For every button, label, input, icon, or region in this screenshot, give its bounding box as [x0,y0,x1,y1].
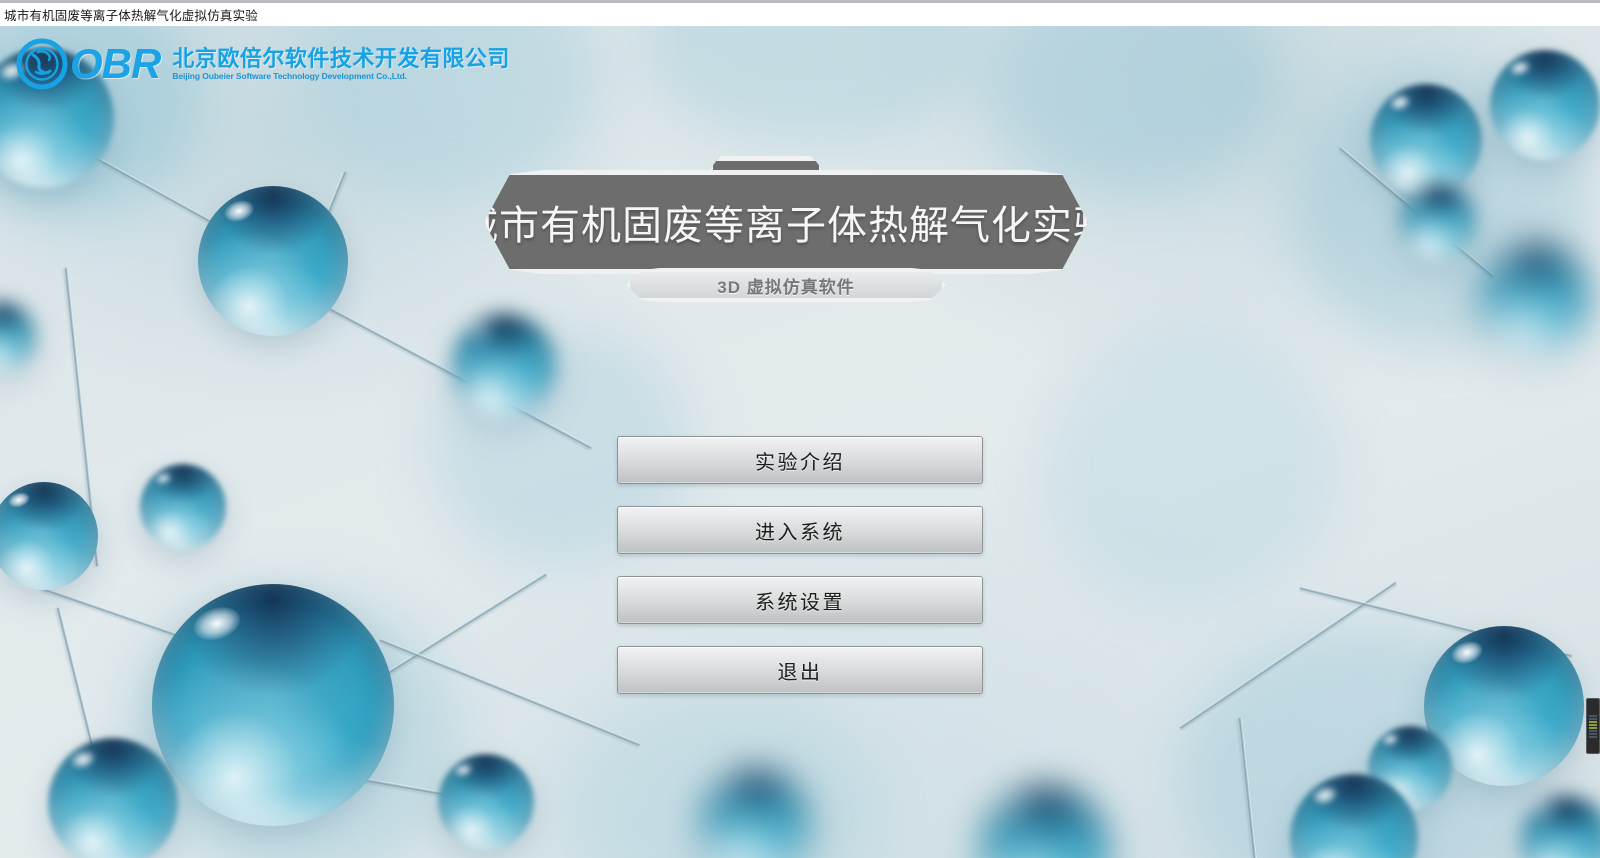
molecule-sphere [1480,244,1590,354]
exit-button-label: 退出 [778,656,823,685]
molecule-sphere [700,770,810,858]
molecular-bond [1339,146,1495,278]
molecule-sphere [1368,726,1452,810]
molecular-bond [1238,718,1263,858]
meter-tick [1589,730,1597,732]
page-subtitle: 3D 虚拟仿真软件 [717,273,854,298]
logo-company-block: 北京欧倍尔软件技术开发有限公司 Beijing Oubeier Software… [172,47,510,80]
system-settings-button-label: 系统设置 [755,586,845,615]
molecule-sphere [1290,774,1418,858]
banner-plate: 城市有机固废等离子体热解气化实验 [484,170,1088,274]
bokeh-blob [640,26,980,146]
bokeh-blob [1040,326,1340,606]
molecule-sphere [1520,796,1600,858]
banner-top-notch [708,156,824,172]
application-window: 城市有机固废等离子体热解气化虚拟仿真实验 [0,0,1600,858]
molecular-bond [1179,581,1397,730]
molecular-bond [1300,586,1573,658]
molecule-sphere [140,464,226,550]
molecular-bond [56,608,116,832]
logo-wordmark: OBR [70,43,160,85]
molecular-bond [160,742,486,803]
logo-company-name-cn: 北京欧倍尔软件技术开发有限公司 [172,47,510,70]
molecular-bond [39,586,324,687]
molecule-sphere [152,584,394,826]
edge-scrollbar-widget[interactable] [1586,698,1600,754]
molecule-sphere [452,314,556,418]
main-menu: 实验介绍 进入系统 系统设置 退出 [617,436,983,694]
bokeh-blob [560,686,880,858]
window-title-text: 城市有机固废等离子体热解气化虚拟仿真实验 [4,5,258,24]
molecular-bond [59,136,253,246]
molecule-sphere [0,302,36,372]
molecule-sphere [0,482,98,590]
molecule-sphere [1490,50,1600,160]
enter-system-button-label: 进入系统 [755,516,845,545]
logo-company-name-en: Beijing Oubeier Software Technology Deve… [172,72,510,81]
molecule-sphere [198,186,348,336]
molecule-sphere [1400,184,1476,260]
molecular-bond [64,268,99,567]
meter-tick [1589,721,1597,723]
page-title: 城市有机固废等离子体热解气化实验 [458,193,1114,251]
molecular-bond [379,638,640,747]
molecule-sphere [1370,84,1482,196]
bokeh-blob [120,586,460,858]
molecule-sphere [1424,626,1584,786]
system-settings-button[interactable]: 系统设置 [617,576,983,624]
meter-tick [1589,724,1597,726]
molecule-sphere [980,786,1110,858]
meter-tick [1589,733,1597,735]
molecule-sphere [438,754,534,850]
banner-subtitle-plate: 3D 虚拟仿真软件 [626,268,946,302]
molecule-sphere [48,738,178,858]
meter-tick [1589,736,1597,738]
bokeh-blob [1290,66,1590,346]
bokeh-blob [1180,626,1540,858]
experiment-intro-button[interactable]: 实验介绍 [617,436,983,484]
experiment-intro-button-label: 实验介绍 [755,446,845,475]
enter-system-button[interactable]: 进入系统 [617,506,983,554]
main-stage: OBR 北京欧倍尔软件技术开发有限公司 Beijing Oubeier Soft… [0,26,1600,858]
window-title-bar: 城市有机固废等离子体热解气化虚拟仿真实验 [0,0,1600,26]
molecular-bond [298,171,347,284]
company-logo: OBR 北京欧倍尔软件技术开发有限公司 Beijing Oubeier Soft… [16,38,510,90]
obr-globe-icon [16,38,68,90]
meter-tick [1589,727,1597,729]
meter-tick [1589,718,1597,720]
meter-tick [1589,715,1597,717]
molecular-bond [299,573,547,730]
exit-button[interactable]: 退出 [617,646,983,694]
title-banner: 城市有机固废等离子体热解气化实验 3D 虚拟仿真软件 [484,156,1088,316]
